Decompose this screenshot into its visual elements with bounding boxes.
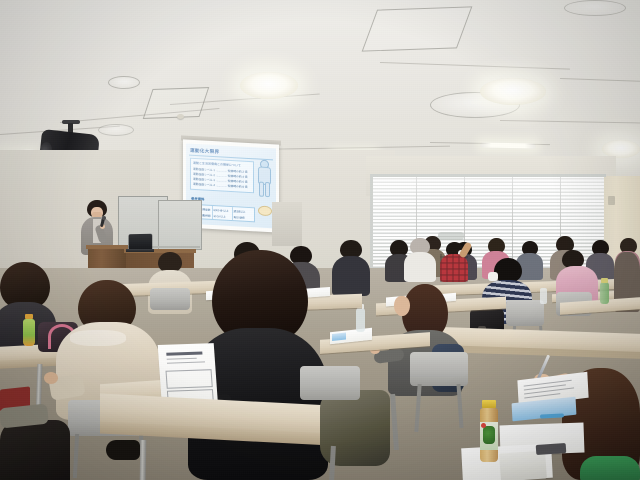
smoke-detector — [177, 114, 184, 119]
attendee-torso — [332, 256, 370, 296]
water-bottle-clear — [356, 308, 365, 332]
drink-bottle-orange — [22, 314, 36, 346]
handout-title-line — [166, 352, 202, 356]
paper-text-line — [167, 361, 205, 363]
handout-box — [166, 369, 213, 389]
square-ceiling-vent-left — [143, 87, 210, 119]
round-ceiling-vent-top-right — [564, 0, 626, 16]
seminar-room-photo: 運動化大限界 運動と生活習慣病との関係について 運動強度レベル 1 ………… 安… — [0, 0, 640, 480]
attendee-white-shirt — [404, 252, 436, 282]
stacking-chair — [300, 366, 360, 400]
round-ceiling-vent-left-lower — [98, 124, 134, 136]
label-badge — [481, 423, 486, 428]
attendee-hair — [158, 252, 182, 272]
water-bottle-clear — [540, 288, 547, 304]
label-graphic — [483, 426, 495, 444]
attendee-face — [394, 296, 410, 316]
foreground-bag — [0, 420, 70, 480]
tube-ceiling-light-right — [480, 143, 536, 149]
attendee-hair — [494, 258, 522, 282]
stacking-chair — [506, 300, 544, 326]
shoe — [106, 440, 140, 460]
attendee-dark-jacket-mid — [330, 240, 376, 300]
round-ceiling-vent-left — [108, 76, 140, 89]
jacket-hood — [70, 330, 126, 346]
podium-top — [86, 245, 128, 249]
bottle-label — [480, 422, 498, 450]
tea-bottle-green-label — [478, 400, 500, 462]
plaid-pattern — [440, 254, 468, 282]
pencil-case-white — [499, 450, 547, 480]
wall-hook — [608, 196, 615, 205]
bottle-body — [23, 319, 35, 346]
window-frame-top — [370, 174, 606, 177]
whiteboard-panel-right — [158, 200, 202, 250]
bottle-cap — [482, 400, 496, 408]
bottle-cap — [601, 278, 608, 283]
desk-leg — [140, 440, 147, 480]
square-ceiling-vent-right — [362, 6, 473, 51]
attendee-hand — [44, 372, 58, 384]
back-partition — [272, 202, 302, 246]
attendee-green-top — [580, 456, 640, 480]
paper-text-line — [167, 358, 197, 360]
stacking-chair — [410, 352, 468, 386]
paper-text-line — [524, 393, 560, 398]
microphone-head — [102, 216, 106, 220]
dark-case — [536, 443, 567, 455]
round-ceiling-light-right — [480, 78, 546, 105]
round-ceiling-light-center — [240, 72, 298, 99]
presenter-laptop — [129, 234, 153, 251]
tea-bottle-green-label — [600, 282, 609, 304]
